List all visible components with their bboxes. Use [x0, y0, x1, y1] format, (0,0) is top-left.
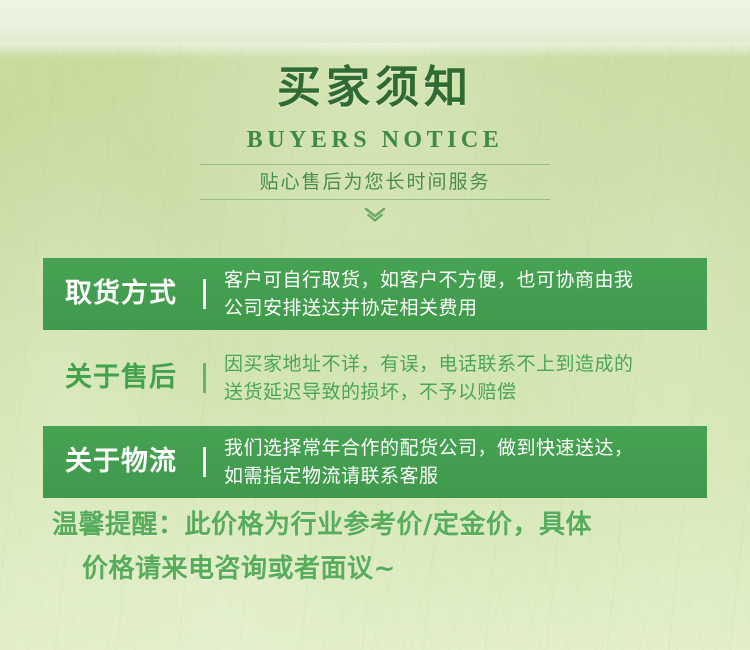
notice-row-logistics: 关于物流 我们选择常年合作的配货公司，做到快速送达， 如需指定物流请联系客服: [43, 426, 707, 498]
label-separator: [203, 447, 206, 477]
label-separator: [203, 279, 206, 309]
notice-row-text-line1: 因买家地址不详，有误，电话联系不上到造成的: [224, 350, 707, 378]
label-separator: [203, 363, 206, 393]
price-reminder-note: 温馨提醒：此价格为行业参考价/定金价，具体 价格请来电咨询或者面议~: [52, 503, 712, 591]
double-chevron-down-icon: [0, 206, 750, 226]
service-slogan: 贴心售后为您长时间服务: [200, 165, 550, 199]
notice-row-pickup: 取货方式 客户可自行取货，如客户不方便，也可协商由我 公司安排送达并协定相关费用: [43, 258, 707, 330]
notice-row-text-line1: 我们选择常年合作的配货公司，做到快速送达，: [224, 434, 707, 462]
notice-row-label: 关于售后: [65, 361, 197, 395]
notice-row-aftersales: 关于售后 因买家地址不详，有误，电话联系不上到造成的 送货延迟导致的损坏，不予以…: [43, 342, 707, 414]
top-light-strip: [0, 0, 750, 43]
notice-row-text-line1: 客户可自行取货，如客户不方便，也可协商由我: [224, 266, 707, 294]
notice-row-text-line2: 送货延迟导致的损坏，不予以赔偿: [224, 378, 707, 406]
notice-row-label: 取货方式: [65, 277, 197, 311]
notice-row-label: 关于物流: [65, 445, 197, 479]
price-reminder-line2: 价格请来电咨询或者面议~: [52, 547, 712, 591]
notice-row-text: 我们选择常年合作的配货公司，做到快速送达， 如需指定物流请联系客服: [224, 434, 707, 490]
subtitle-block: 贴心售后为您长时间服务: [200, 164, 550, 200]
notice-row-text: 因买家地址不详，有误，电话联系不上到造成的 送货延迟导致的损坏，不予以赔偿: [224, 350, 707, 406]
notice-row-text-line2: 公司安排送达并协定相关费用: [224, 294, 707, 322]
notice-row-text: 客户可自行取货，如客户不方便，也可协商由我 公司安排送达并协定相关费用: [224, 266, 707, 322]
divider-top: [200, 164, 550, 165]
notice-row-text-line2: 如需指定物流请联系客服: [224, 462, 707, 490]
notice-rows: 取货方式 客户可自行取货，如客户不方便，也可协商由我 公司安排送达并协定相关费用…: [43, 258, 707, 510]
price-reminder-line1: 温馨提醒：此价格为行业参考价/定金价，具体: [52, 510, 592, 540]
page-subtitle-english: BUYERS NOTICE: [0, 126, 750, 154]
page-title: 买家须知: [0, 63, 750, 113]
buyers-notice-banner: 买家须知 BUYERS NOTICE 贴心售后为您长时间服务 取货方式 客户可自…: [0, 0, 750, 650]
divider-bottom: [200, 199, 550, 200]
